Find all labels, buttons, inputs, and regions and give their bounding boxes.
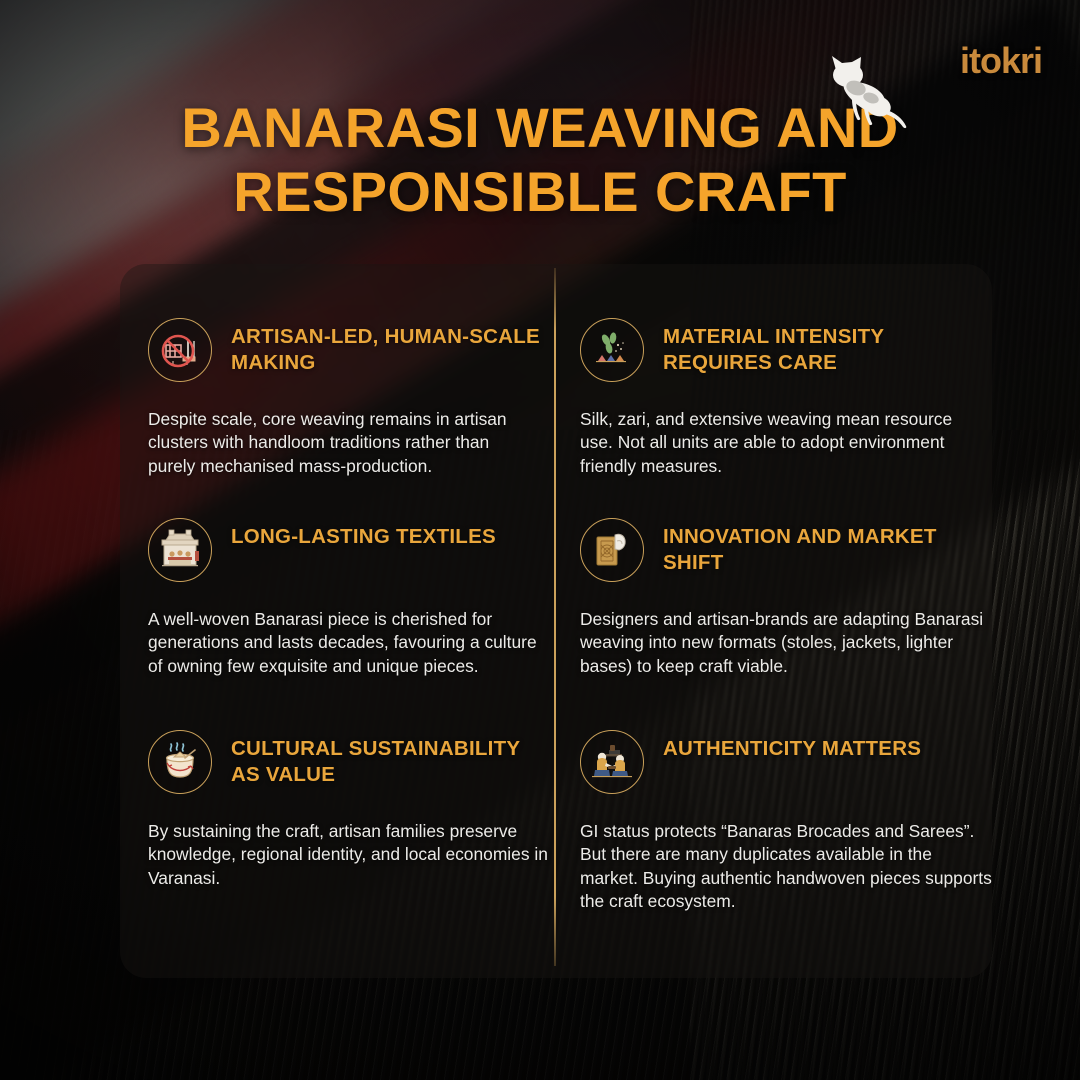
hand-holding-patterned-textile-icon: [580, 518, 644, 582]
point-card-artisan-led: ARTISAN-LED, HUMAN-SCALE MAKING Despite …: [148, 318, 540, 478]
infographic-canvas: BANARASI WEAVING AND RESPONSIBLE CRAFT i…: [0, 0, 1080, 1080]
card-body: By sustaining the craft, artisan familie…: [148, 820, 548, 890]
two-seated-artisans-icon: [580, 730, 644, 794]
point-card-long-lasting-textiles: LONG-LASTING TEXTILES A well-woven Banar…: [148, 518, 540, 678]
card-body: Designers and artisan-brands are adaptin…: [580, 608, 988, 678]
leaves-and-dye-pigments-icon: [580, 318, 644, 382]
card-title: CULTURAL SUSTAINABILITY AS VALUE: [231, 736, 548, 788]
point-card-authenticity-matters: AUTHENTICITY MATTERS GI status protects …: [580, 730, 994, 913]
card-title: LONG-LASTING TEXTILES: [231, 524, 496, 550]
card-body: Silk, zari, and extensive weaving mean r…: [580, 408, 988, 478]
card-body: GI status protects “Banaras Brocades and…: [580, 820, 994, 913]
card-title: MATERIAL INTENSITY REQUIRES CARE: [663, 324, 988, 376]
card-body: A well-woven Banarasi piece is cherished…: [148, 608, 540, 678]
points-grid: ARTISAN-LED, HUMAN-SCALE MAKING Despite …: [0, 0, 1080, 1080]
point-card-material-intensity: MATERIAL INTENSITY REQUIRES CARE Silk, z…: [580, 318, 988, 478]
card-header: LONG-LASTING TEXTILES: [148, 518, 540, 582]
point-card-cultural-sustainability: CULTURAL SUSTAINABILITY AS VALUE By sust…: [148, 730, 548, 890]
steaming-dye-pot-icon: [148, 730, 212, 794]
card-title: INNOVATION AND MARKET SHIFT: [663, 524, 988, 576]
card-header: MATERIAL INTENSITY REQUIRES CARE: [580, 318, 988, 382]
card-title: ARTISAN-LED, HUMAN-SCALE MAKING: [231, 324, 540, 376]
card-title: AUTHENTICITY MATTERS: [663, 736, 921, 762]
card-header: INNOVATION AND MARKET SHIFT: [580, 518, 988, 582]
craft-shop-storefront-icon: [148, 518, 212, 582]
card-body: Despite scale, core weaving remains in a…: [148, 408, 540, 478]
no-machine-loom-icon: [148, 318, 212, 382]
point-card-innovation-market-shift: INNOVATION AND MARKET SHIFT Designers an…: [580, 518, 988, 678]
card-header: ARTISAN-LED, HUMAN-SCALE MAKING: [148, 318, 540, 382]
card-header: CULTURAL SUSTAINABILITY AS VALUE: [148, 730, 548, 794]
card-header: AUTHENTICITY MATTERS: [580, 730, 994, 794]
